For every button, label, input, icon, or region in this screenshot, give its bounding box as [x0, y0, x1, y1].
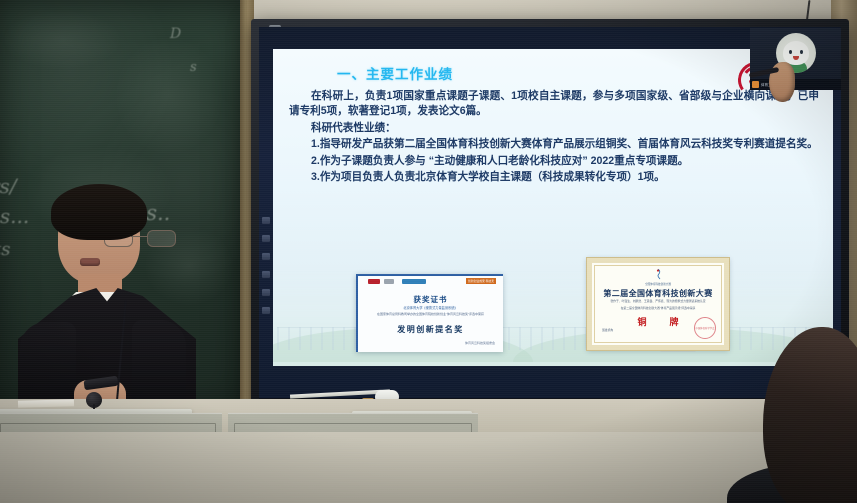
slide-paragraph: 1.指导研发产品获第二届全国体育科技创新大赛体育产品展示组铜奖、首届体育风云科技… — [289, 137, 819, 152]
chalk-text-1: rs/ — [0, 174, 17, 198]
presentation-slide[interactable]: 一、主要工作业绩 北 在科研上，负责1项国家重点课题子课题、1项校自主课题，参与… — [273, 49, 833, 366]
edge-tool-icon[interactable] — [262, 289, 270, 296]
chalk-text-4: ts — [0, 239, 10, 260]
edge-tool-icon[interactable] — [262, 217, 270, 224]
panel-edge-toolbar[interactable] — [261, 217, 273, 325]
slide-title: 一、主要工作业绩 — [337, 63, 453, 83]
certificate-title: 获奖证书 — [358, 294, 503, 305]
slide-paragraph: 3.作为项目负责人负责北京体育大学校自主课题（科技成果转化专项）1项。 — [289, 170, 819, 185]
classroom-photo-scene: rs/ es... nnigs.. ts D s — [0, 0, 857, 503]
certificate-image-left: 创新创业成果 科技奖 获奖证书 北京体育大学《便携式力量监测系统》 在国家体育总… — [356, 274, 503, 352]
certificate-detail: 在国家体育总局科教司举办的全国体育院校创新创业“体育风云科技奖”评选中荣获 — [358, 312, 503, 316]
certificate-subtitle: 北京体育大学《便携式力量监测系统》 — [358, 305, 503, 310]
certificate-line-2: 在第二届全国体育科技创新大赛“体育产品展示组”评选中荣获 — [600, 306, 716, 310]
certificate-red-seal: 中国体育科学学会 — [694, 317, 716, 339]
competition-emblem — [652, 268, 665, 281]
participant-label-bar: 体育工程学院教师 — [750, 79, 841, 90]
panel-screen[interactable]: 一、主要工作业绩 北 在科研上，负责1项国家重点课题子课题、1项校自主课题，参与… — [259, 27, 841, 398]
certificate-emblem-caption: 全国体育科技创新大赛 — [592, 282, 724, 286]
presenter — [18, 192, 196, 422]
papers-on-desk — [18, 399, 74, 407]
certificate-image-right: 全国体育科技创新大赛 第二届全国体育科技创新大赛 张作于、叶强生、刘鹏浩、王思鑫… — [587, 258, 729, 350]
slide-paragraph: 科研代表性业绩： — [289, 121, 819, 136]
certificate-signature: 颁发机构 — [602, 328, 613, 332]
participant-icon — [752, 81, 759, 88]
edge-tool-icon[interactable] — [262, 271, 270, 278]
video-call-participant-tile[interactable]: 体育工程学院教师 — [750, 28, 841, 90]
interactive-flat-panel[interactable]: 一、主要工作业绩 北 在科研上，负责1项国家重点课题子课题、1项校自主课题，参与… — [251, 19, 849, 422]
presenter-hair — [51, 184, 147, 240]
certificate-line-1: 张作于、叶强生、刘鹏浩、王思鑫、严伟嘉、现为的便携式力量测试系统认定 — [600, 299, 716, 303]
slide-paragraph: 在科研上，负责1项国家重点课题子课题、1项校自主课题，参与多项国家级、省部级与企… — [289, 89, 819, 120]
edge-tool-icon[interactable] — [262, 307, 270, 314]
certificate-stamp-badge: 创新创业成果 科技奖 — [466, 278, 496, 284]
slide-paragraph: 2.作为子课题负责人参与 “主动健康和人口老龄化科技应对” 2022重点专项课题… — [289, 154, 819, 169]
certificate-issuer: 体育风云科技奖组委会 — [465, 341, 495, 345]
certificate-title: 第二届全国体育科技创新大赛 — [592, 288, 724, 299]
edge-tool-icon[interactable] — [262, 235, 270, 242]
certificate-award-name: 发明创新提名奖 — [358, 324, 503, 335]
edge-tool-icon[interactable] — [262, 253, 270, 260]
slide-body-text: 在科研上，负责1项国家重点课题子课题、1项校自主课题，参与多项国家级、省部级与企… — [289, 89, 819, 186]
